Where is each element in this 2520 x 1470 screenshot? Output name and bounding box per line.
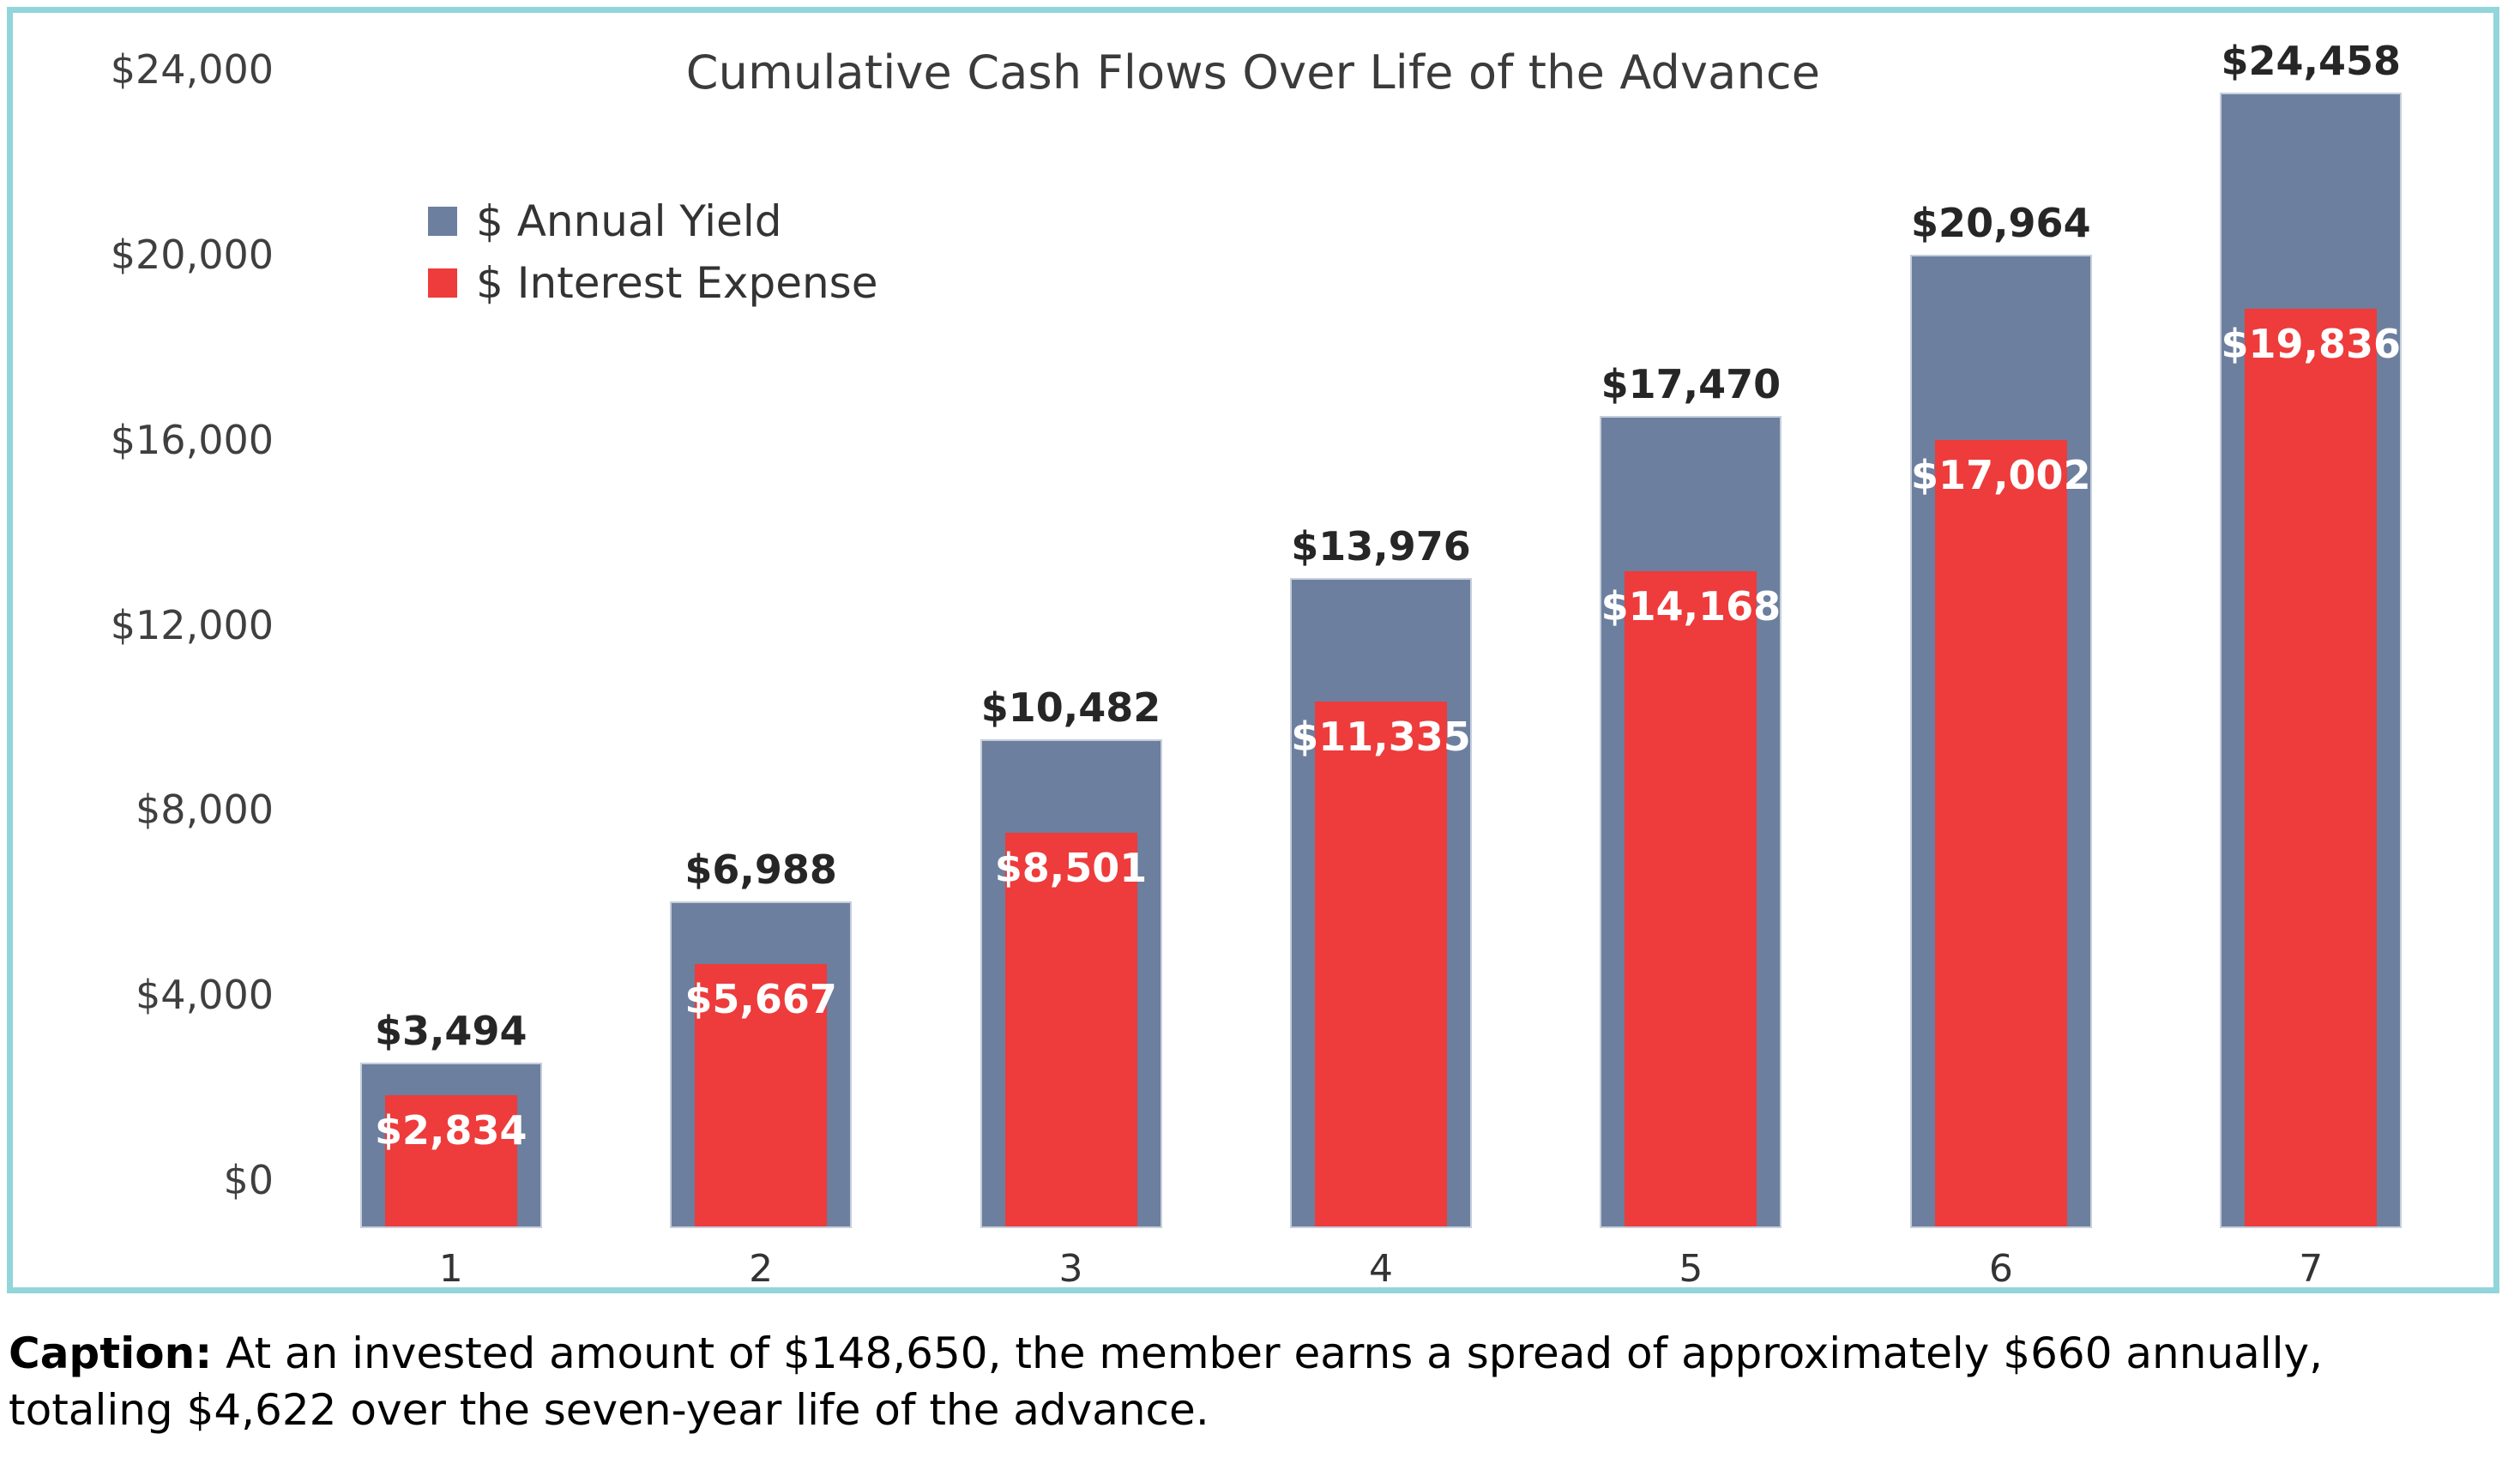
figure-caption: Caption: At an invested amount of $148,6…: [9, 1325, 2324, 1438]
bar-interest-expense[interactable]: $2,834: [385, 1095, 517, 1226]
plot-area: $0$4,000$8,000$12,000$16,000$20,000$24,0…: [296, 116, 2466, 1226]
bar-inner-label: $8,501: [995, 845, 1148, 891]
bar-annual-yield[interactable]: $6,988$5,6672: [672, 903, 850, 1226]
bar-group: $10,482$8,5013: [916, 116, 1226, 1226]
bar-annual-yield[interactable]: $13,976$11,3354: [1292, 580, 1470, 1226]
bar-total-label: $13,976: [1291, 523, 1471, 569]
bar-inner-label: $14,168: [1601, 583, 1781, 630]
y-axis-tick-label: $0: [223, 1157, 274, 1203]
bar-total-label: $17,470: [1601, 361, 1781, 407]
bar-inner-label: $5,667: [684, 976, 837, 1022]
x-axis-tick-label: 5: [1679, 1247, 1703, 1291]
bar-total-label: $10,482: [981, 684, 1161, 731]
bar-total-label: $24,458: [2221, 38, 2401, 84]
bar-annual-yield[interactable]: $10,482$8,5013: [982, 741, 1161, 1226]
bar-annual-yield[interactable]: $20,964$17,0026: [1912, 256, 2090, 1226]
x-axis-tick-label: 4: [1369, 1247, 1393, 1291]
chart-title: Cumulative Cash Flows Over Life of the A…: [13, 45, 2493, 99]
x-axis-tick-label: 7: [2299, 1247, 2323, 1291]
bar-group: $13,976$11,3354: [1226, 116, 1535, 1226]
x-axis-tick-label: 6: [1989, 1247, 2013, 1291]
bar-annual-yield[interactable]: $24,458$19,8367: [2222, 94, 2400, 1226]
bar-inner-label: $19,836: [2221, 321, 2401, 367]
y-axis-tick-label: $24,000: [111, 46, 274, 93]
bar-total-label: $3,494: [375, 1008, 528, 1054]
x-axis-tick-label: 1: [439, 1247, 463, 1291]
bar-group: $17,470$14,1685: [1536, 116, 1846, 1226]
bar-group: $6,988$5,6672: [606, 116, 915, 1226]
y-axis-tick-label: $4,000: [136, 972, 274, 1018]
y-axis-tick-label: $20,000: [111, 232, 274, 278]
caption-text: At an invested amount of $148,650, the m…: [9, 1328, 2323, 1435]
bar-interest-expense[interactable]: $5,667: [695, 964, 827, 1226]
bar-interest-expense[interactable]: $11,335: [1315, 702, 1447, 1226]
bar-group: $20,964$17,0026: [1846, 116, 2155, 1226]
caption-prefix: Caption:: [9, 1328, 212, 1378]
bar-interest-expense[interactable]: $8,501: [1005, 833, 1137, 1226]
page-root: Cumulative Cash Flows Over Life of the A…: [0, 0, 2520, 1470]
y-axis-tick-label: $16,000: [111, 417, 274, 463]
bar-annual-yield[interactable]: $3,494$2,8341: [362, 1064, 540, 1226]
x-axis-tick-label: 3: [1059, 1247, 1083, 1291]
y-axis-tick-label: $12,000: [111, 602, 274, 648]
bar-group: $24,458$19,8367: [2156, 116, 2466, 1226]
bar-total-label: $6,988: [684, 846, 837, 893]
x-axis-tick-label: 2: [749, 1247, 773, 1291]
bar-interest-expense[interactable]: $14,168: [1625, 571, 1757, 1226]
bar-group: $3,494$2,8341: [296, 116, 606, 1226]
bar-inner-label: $17,002: [1911, 452, 2091, 498]
bar-interest-expense[interactable]: $17,002: [1935, 440, 2067, 1226]
bar-interest-expense[interactable]: $19,836: [2245, 309, 2377, 1226]
bar-inner-label: $2,834: [375, 1107, 528, 1154]
chart-container: Cumulative Cash Flows Over Life of the A…: [7, 7, 2499, 1293]
bar-series-container: $3,494$2,8341$6,988$5,6672$10,482$8,5013…: [296, 116, 2466, 1226]
bar-total-label: $20,964: [1911, 200, 2091, 246]
bar-inner-label: $11,335: [1291, 714, 1471, 760]
bar-annual-yield[interactable]: $17,470$14,1685: [1601, 418, 1780, 1226]
y-axis-tick-label: $8,000: [136, 786, 274, 833]
